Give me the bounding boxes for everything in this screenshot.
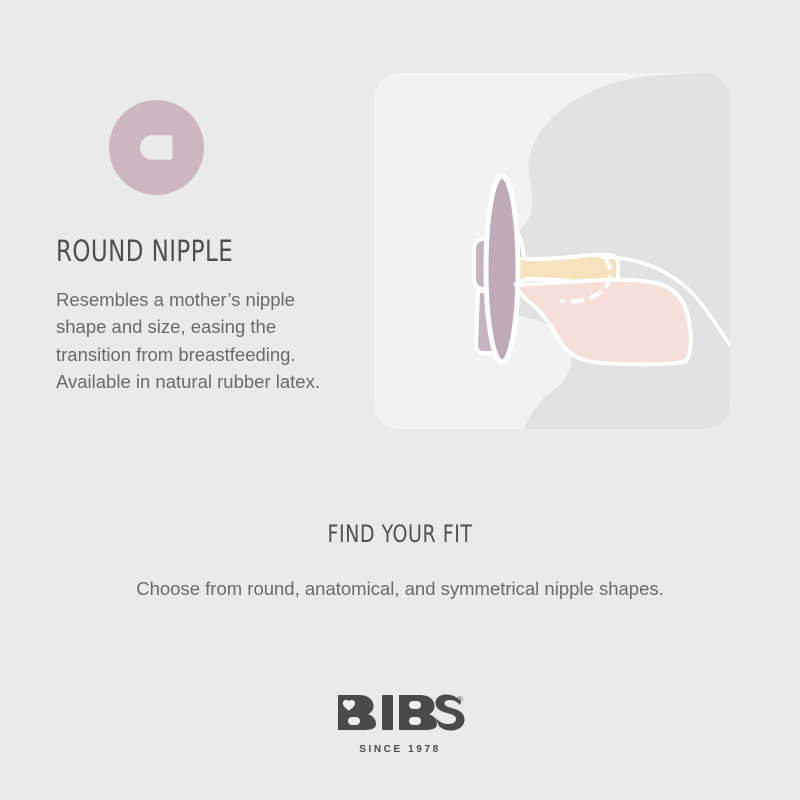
pacifier-shield-shape (486, 176, 518, 362)
chin-silhouette-shape (524, 349, 571, 429)
round-nipple-shape-icon (109, 100, 204, 195)
brand-footer: ® SINCE 1978 (0, 692, 800, 755)
registered-mark-glyph: ® (457, 695, 463, 704)
feature-description: Resembles a mother’s nipple shape and si… (56, 286, 338, 396)
find-your-fit-subtitle: Choose from round, anatomical, and symme… (0, 578, 800, 600)
feature-section: ROUND NIPPLE Resembles a mother’s nipple… (0, 0, 800, 470)
bibs-logo: ® (335, 692, 465, 732)
product-feature-page: ROUND NIPPLE Resembles a mother’s nipple… (0, 0, 800, 800)
find-your-fit-section: FIND YOUR FIT Choose from round, anatomi… (0, 520, 800, 600)
feature-text-block: ROUND NIPPLE Resembles a mother’s nipple… (56, 100, 356, 396)
feature-title: ROUND NIPPLE (56, 237, 320, 266)
pacifier-illustration-panel (374, 73, 730, 429)
brand-tagline: SINCE 1978 (0, 744, 800, 755)
find-your-fit-title: FIND YOUR FIT (48, 520, 752, 548)
